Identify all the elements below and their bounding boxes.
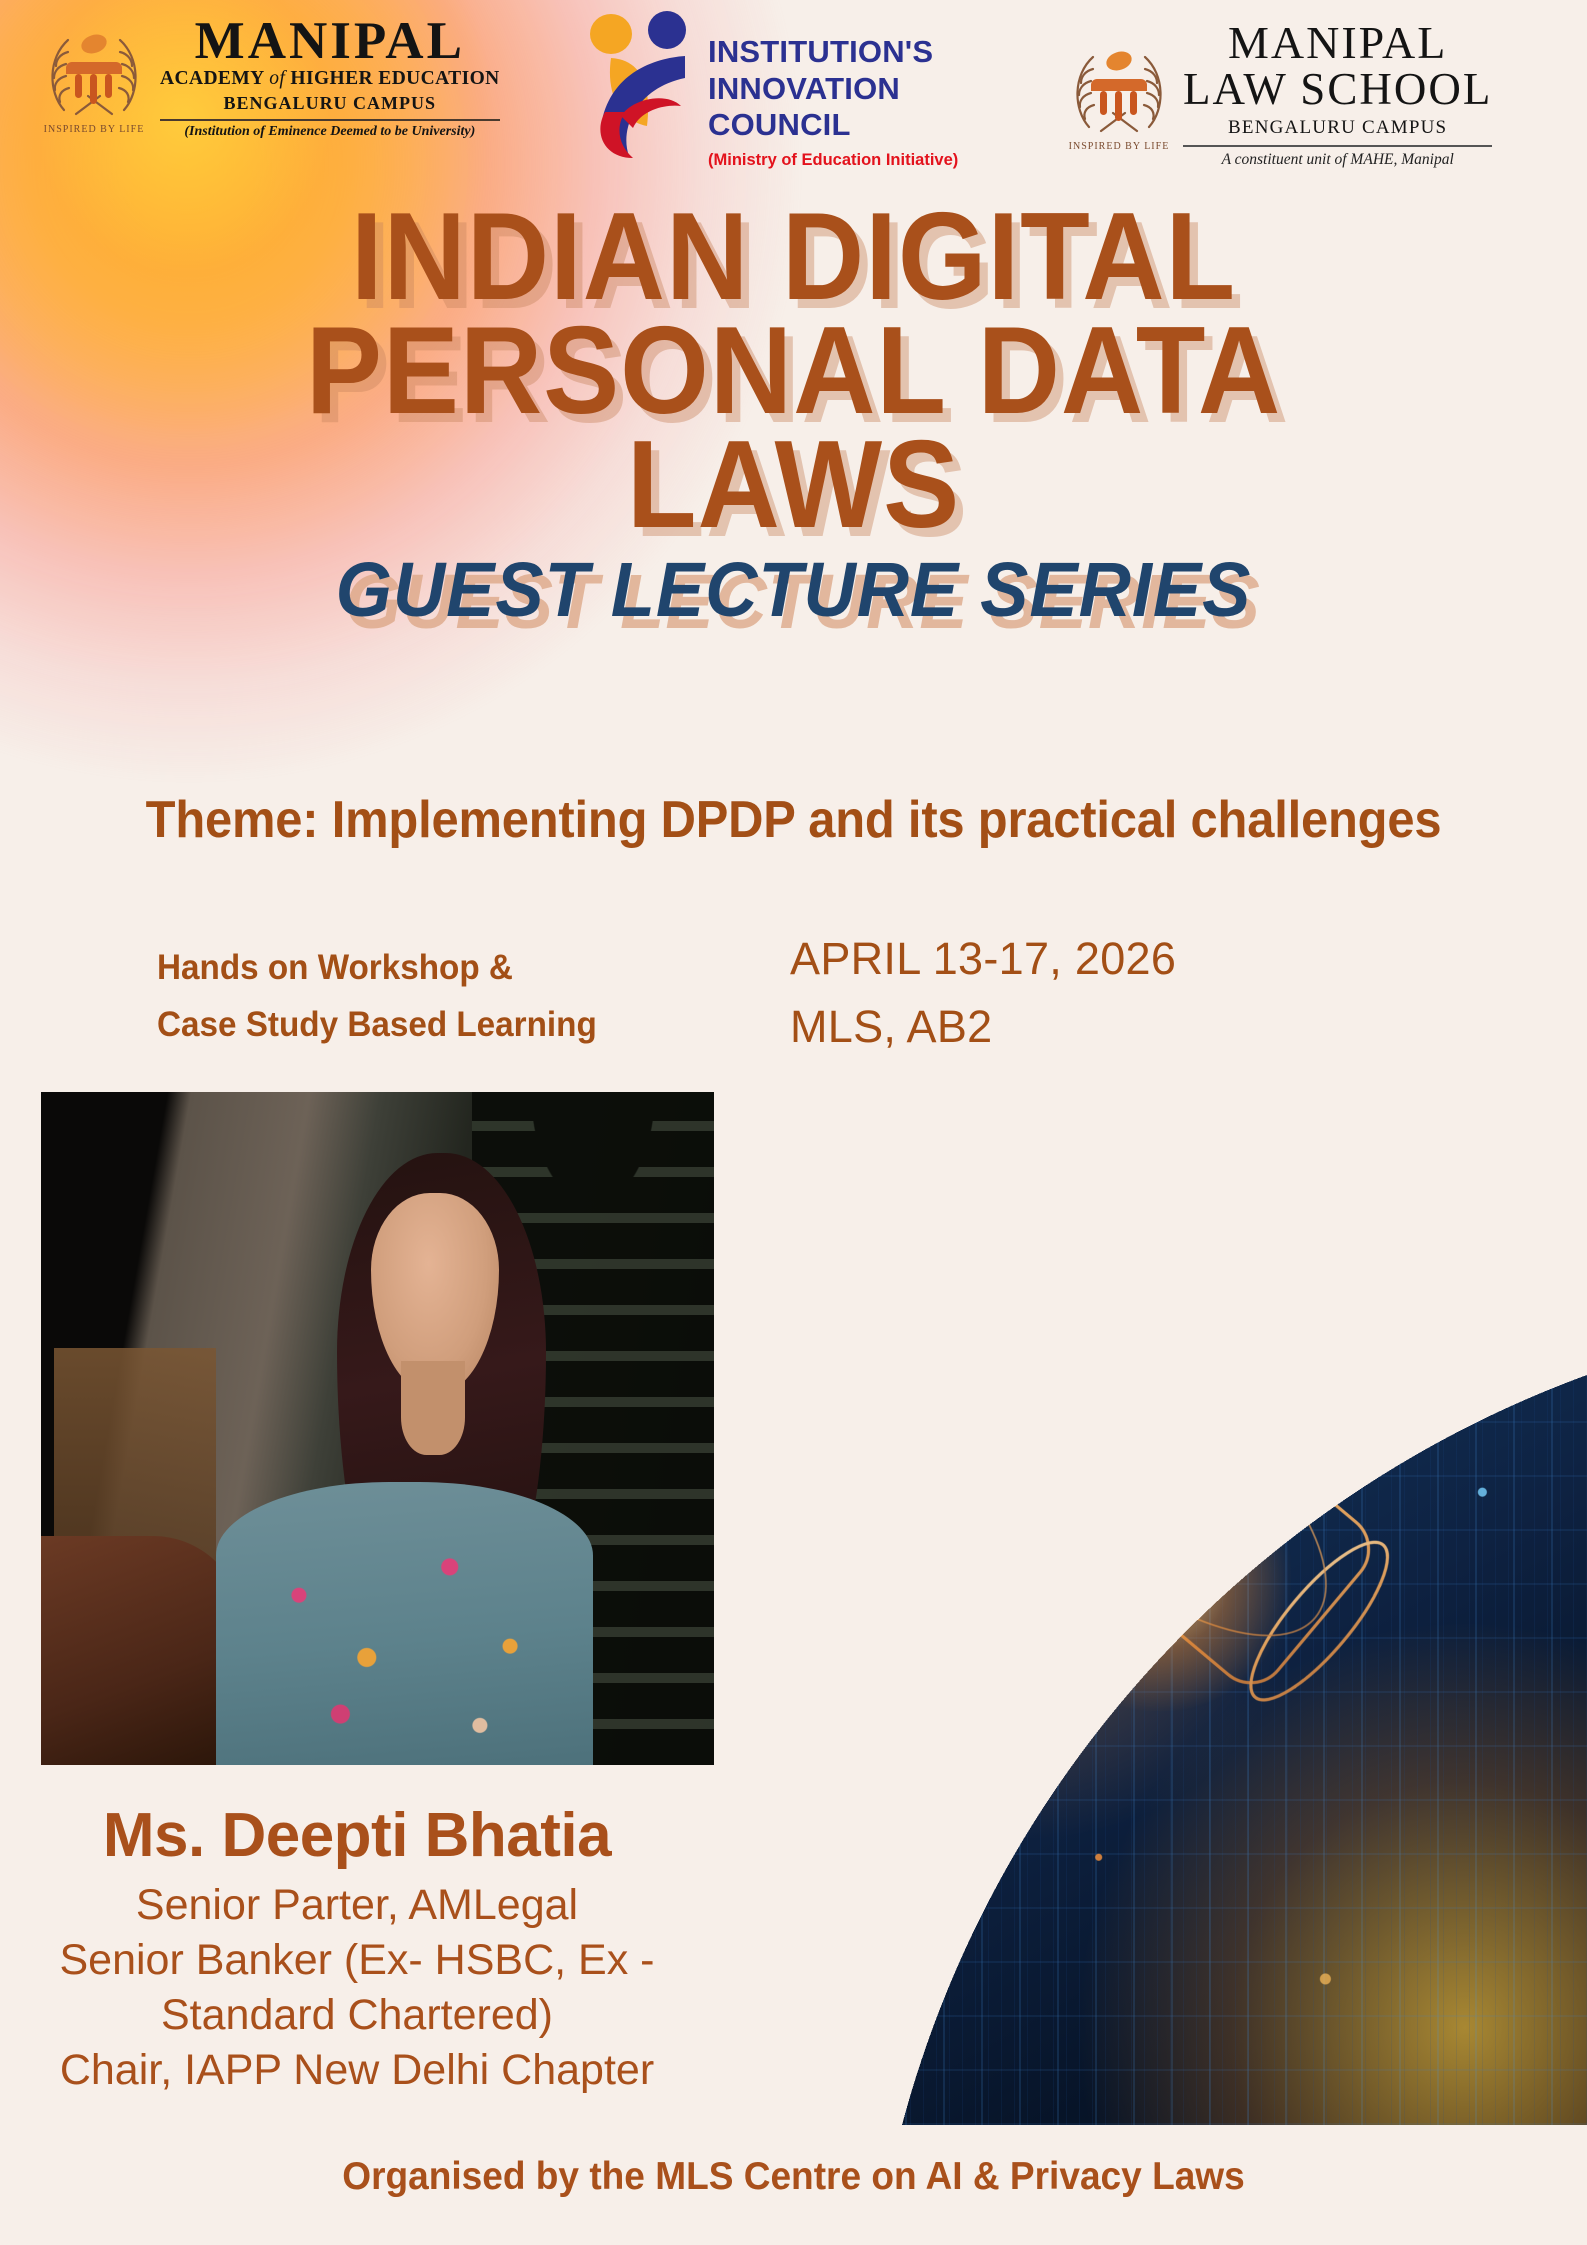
logo-iic: INSTITUTION'S INNOVATION COUNCIL (Minist… xyxy=(575,8,958,170)
svg-text:INSPIRED BY LIFE: INSPIRED BY LIFE xyxy=(44,124,145,135)
mls-divider xyxy=(1183,145,1492,147)
workshop-line-1: Hands on Workshop & xyxy=(157,940,689,997)
mahe-sub1: ACADEMY of HIGHER EDUCATION xyxy=(160,68,500,90)
mahe-sub3: (Institution of Eminence Deemed to be Un… xyxy=(184,124,475,140)
mahe-sub2: BENGALURU CAMPUS xyxy=(224,93,437,114)
workshop-block: Hands on Workshop & Case Study Based Lea… xyxy=(157,940,689,1053)
organiser-footer: Organised by the MLS Centre on AI & Priv… xyxy=(40,2155,1548,2199)
iic-figures-icon xyxy=(575,8,700,158)
photo-chair-arm xyxy=(41,1536,243,1765)
mahe-wordmark: MANIPAL ACADEMY of HIGHER EDUCATION BENG… xyxy=(160,16,500,140)
iic-ministry-note: (Ministry of Education Initiative) xyxy=(708,151,958,170)
speaker-role-2: Senior Banker (Ex- HSBC, Ex - xyxy=(0,1933,714,1988)
iic-wordmark: INSTITUTION'S INNOVATION COUNCIL (Minist… xyxy=(708,34,958,170)
mls-unit-note: A constituent unit of MAHE, Manipal xyxy=(1222,151,1454,169)
mls-campus: BENGALURU CAMPUS xyxy=(1228,117,1447,139)
mahe-divider xyxy=(160,119,500,121)
title-line-2: PERSONAL DATA xyxy=(63,314,1523,428)
logo-mls: INSPIRED BY LIFE MANIPAL LAW SCHOOL BENG… xyxy=(1063,20,1492,169)
iic-line-1: INSTITUTION'S xyxy=(708,34,958,71)
iic-line-2: INNOVATION xyxy=(708,71,958,108)
speaker-role-4: Chair, IAPP New Delhi Chapter xyxy=(0,2043,714,2098)
logo-bar: INSPIRED BY LIFE MANIPAL ACADEMY of HIGH… xyxy=(0,0,1587,178)
digital-gavel-image xyxy=(715,908,1587,2125)
title-block: INDIAN DIGITAL PERSONAL DATA LAWS GUEST … xyxy=(0,200,1587,629)
speaker-role-3: Standard Chartered) xyxy=(0,1988,714,2043)
speaker-name: Ms. Deepti Bhatia xyxy=(0,1800,714,1871)
gavel-impact-glow xyxy=(1029,1443,1291,1711)
title-line-1: INDIAN DIGITAL xyxy=(63,200,1523,314)
mls-name-line-2: LAW SCHOOL xyxy=(1183,66,1492,113)
iic-line-3: COUNCIL xyxy=(708,107,958,144)
photo-floral-attire xyxy=(216,1482,593,1765)
poster-root: INSPIRED BY LIFE MANIPAL ACADEMY of HIGH… xyxy=(0,0,1587,2245)
logo-mahe: INSPIRED BY LIFE MANIPAL ACADEMY of HIGH… xyxy=(38,16,500,140)
mls-crest-icon: INSPIRED BY LIFE xyxy=(1063,35,1175,155)
speaker-role-1: Senior Parter, AMLegal xyxy=(0,1878,714,1933)
mahe-crest-icon: INSPIRED BY LIFE xyxy=(38,18,150,138)
svg-text:INSPIRED BY LIFE: INSPIRED BY LIFE xyxy=(1069,141,1170,152)
mahe-name: MANIPAL xyxy=(195,16,465,66)
photo-neck xyxy=(401,1361,465,1455)
theme-line: Theme: Implementing DPDP and its practic… xyxy=(48,790,1540,850)
workshop-line-2: Case Study Based Learning xyxy=(157,997,689,1054)
subtitle: GUEST LECTURE SERIES xyxy=(48,552,1540,629)
mls-name-line-1: MANIPAL xyxy=(1228,20,1447,66)
speaker-credentials: Senior Parter, AMLegal Senior Banker (Ex… xyxy=(0,1878,714,2098)
speaker-photo xyxy=(41,1092,714,1765)
mls-wordmark: MANIPAL LAW SCHOOL BENGALURU CAMPUS A co… xyxy=(1183,20,1492,169)
title-line-3: LAWS xyxy=(63,428,1523,542)
